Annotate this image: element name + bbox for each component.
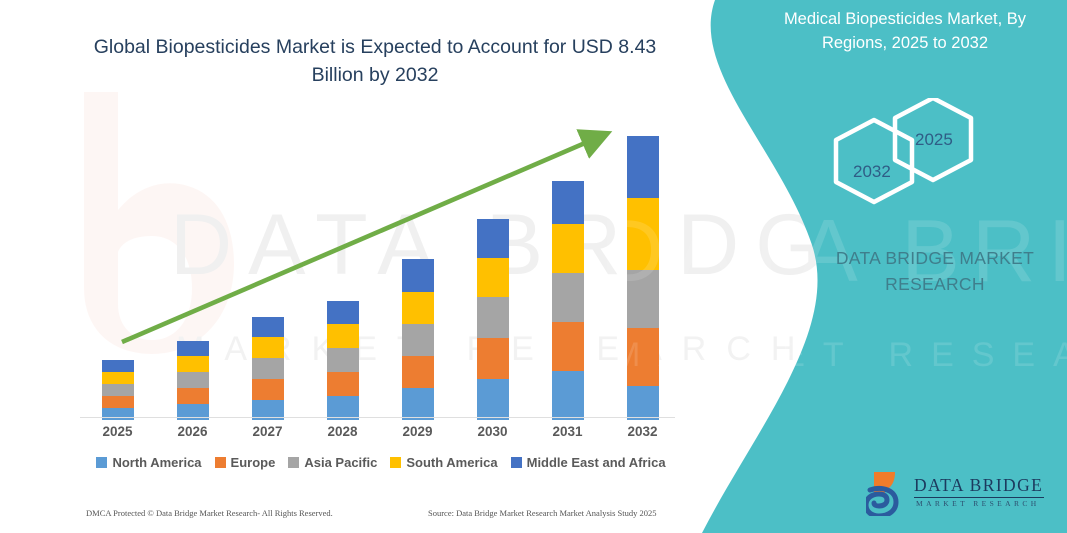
- legend-label: Middle East and Africa: [527, 455, 666, 470]
- hexagon-label-2032: 2032: [853, 162, 891, 182]
- logo-name: DATA BRIDGE: [914, 475, 1043, 496]
- legend-label: South America: [406, 455, 497, 470]
- x-axis-labels: 20252026202720282029203020312032: [80, 424, 680, 446]
- hexagon-label-2025: 2025: [915, 130, 953, 150]
- legend-swatch-icon: [288, 457, 299, 468]
- legend-label: Asia Pacific: [304, 455, 377, 470]
- footer-copyright: DMCA Protected © Data Bridge Market Rese…: [86, 508, 333, 518]
- panel-subtitle: DATA BRIDGE MARKET RESEARCH: [790, 245, 1067, 298]
- legend-label: Europe: [231, 455, 276, 470]
- legend-item-middle-east-and-africa[interactable]: Middle East and Africa: [511, 455, 666, 470]
- x-axis-label-2026: 2026: [163, 424, 223, 439]
- legend-label: North America: [112, 455, 201, 470]
- year-hexagons: [820, 98, 990, 208]
- logo-mark-icon: [866, 470, 912, 516]
- panel-title: Medical Biopesticides Market, By Regions…: [755, 8, 1055, 56]
- x-axis-label-2029: 2029: [388, 424, 448, 439]
- legend-item-north-america[interactable]: North America: [96, 455, 201, 470]
- legend-item-asia-pacific[interactable]: Asia Pacific: [288, 455, 377, 470]
- chart-legend: North AmericaEuropeAsia PacificSouth Ame…: [0, 455, 762, 470]
- logo-tagline: MARKET RESEARCH: [916, 499, 1040, 508]
- legend-item-south-america[interactable]: South America: [390, 455, 497, 470]
- brand-logo: DATA BRIDGE MARKET RESEARCH: [866, 472, 1046, 518]
- x-axis-label-2031: 2031: [538, 424, 598, 439]
- logo-divider: [914, 497, 1044, 498]
- legend-swatch-icon: [96, 457, 107, 468]
- footer-source: Source: Data Bridge Market Research Mark…: [428, 508, 657, 518]
- x-axis-label-2025: 2025: [88, 424, 148, 439]
- x-axis-label-2028: 2028: [313, 424, 373, 439]
- x-axis-label-2027: 2027: [238, 424, 298, 439]
- infographic-canvas: DATA BRIDGE MARKET RESEARCH Global Biope…: [0, 0, 1067, 533]
- trend-arrow: [80, 110, 680, 430]
- x-axis-label-2030: 2030: [463, 424, 523, 439]
- chart-title: Global Biopesticides Market is Expected …: [70, 34, 680, 89]
- legend-swatch-icon: [215, 457, 226, 468]
- legend-swatch-icon: [390, 457, 401, 468]
- legend-item-europe[interactable]: Europe: [215, 455, 276, 470]
- legend-swatch-icon: [511, 457, 522, 468]
